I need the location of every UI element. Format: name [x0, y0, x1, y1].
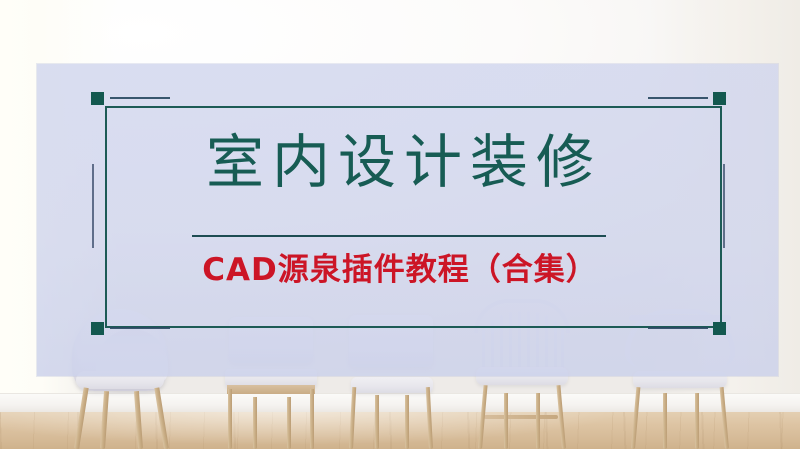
tick-line-top-left — [110, 97, 170, 99]
chair-stretcher — [484, 415, 558, 419]
chair-leg — [154, 387, 169, 449]
chair-leg — [375, 395, 379, 449]
poster-title: 室内设计装修 — [0, 123, 800, 201]
chair-leg — [349, 387, 356, 449]
corner-marker-bottom-left — [91, 322, 104, 335]
corner-marker-bottom-right — [713, 322, 726, 335]
chair-leg — [720, 387, 729, 449]
chair-leg — [405, 395, 409, 449]
chair-leg — [134, 391, 143, 449]
title-divider — [192, 235, 606, 237]
poster-subtitle: CAD源泉插件教程（合集） — [0, 248, 800, 292]
chair-leg — [631, 387, 640, 449]
chair-leg — [310, 389, 314, 449]
tick-line-top-right — [648, 97, 708, 99]
chair-leg — [695, 393, 699, 449]
corner-marker-top-right — [713, 92, 726, 105]
chair-seat — [351, 377, 433, 393]
corner-marker-top-left — [91, 92, 104, 105]
chair-leg — [426, 387, 433, 449]
tick-line-bottom-right — [648, 327, 708, 329]
chair-leg — [663, 393, 667, 449]
chair-leg — [287, 397, 291, 449]
chair-leg — [228, 389, 232, 449]
chair-leg — [100, 391, 109, 449]
chair-apron — [227, 385, 315, 394]
chair-leg — [253, 397, 257, 449]
poster-canvas: 室内设计装修 CAD源泉插件教程（合集） — [0, 0, 800, 449]
chair-leg — [504, 393, 508, 449]
chair-leg — [74, 387, 89, 449]
chair-leg — [536, 393, 540, 449]
tick-line-bottom-left — [110, 327, 170, 329]
